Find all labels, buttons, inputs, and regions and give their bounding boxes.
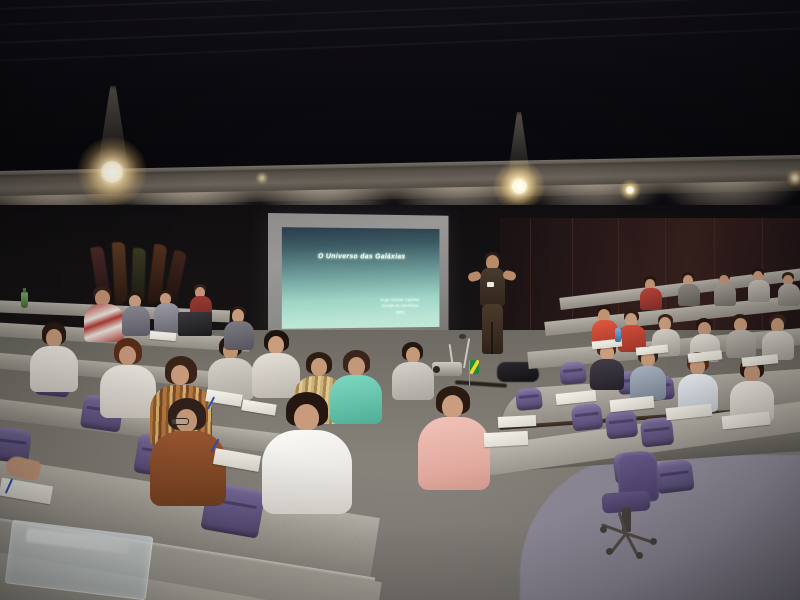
slide-title: O Universo das Galáxias [282,252,440,262]
audience-member [30,322,78,392]
office-chair[interactable] [592,452,684,572]
torso [122,306,150,336]
slide-affiliation: Divisão de Astrofísica [380,304,419,310]
ceiling-spot-right-core [626,186,634,194]
torso [714,284,736,306]
chair-caster [606,548,613,555]
desk-monitor [178,312,212,336]
head [406,347,420,363]
torso [154,303,180,332]
slide-byline: Hugo Vicente Capelato Divisão de Astrofí… [380,298,419,316]
chair-caster [600,526,607,533]
torso [262,430,352,514]
seat[interactable] [640,416,675,447]
projector-lens [433,366,440,373]
torso [640,288,662,310]
seat[interactable] [605,409,639,439]
audience-member [418,386,490,490]
head [311,358,327,376]
speaker-leg-split [491,322,493,354]
brazil-flag-pole [469,360,470,386]
audience-member [678,272,700,306]
ceiling-spot-center-core [512,179,527,194]
head [442,395,463,418]
head [744,364,760,382]
seat[interactable] [515,387,543,411]
projection-screen[interactable]: O Universo das Galáxias Hugo Vicente Cap… [268,213,449,341]
speaker-badge [487,282,494,287]
green-bottle [21,292,28,308]
auditorium-photo: O Universo das Galáxias Hugo Vicente Cap… [0,0,800,600]
eyeglasses [171,418,189,425]
blue-bottle [615,328,621,342]
torso [678,284,700,306]
torso [748,280,770,302]
torso [418,417,490,490]
audience-member [778,272,800,306]
head [171,365,189,385]
paper-sheet [484,431,529,447]
torso [30,346,78,392]
torso [224,321,254,350]
audience-member [726,314,756,358]
brazil-flag [470,360,479,374]
audience-member [640,276,662,310]
slide-institution: INPE [380,309,419,315]
audience-member [84,286,124,342]
head [46,329,62,347]
audience-member [748,268,770,302]
torso [590,359,624,390]
bottle-neck [23,288,26,293]
head [119,346,136,365]
chair-caster [636,552,643,559]
head [348,357,365,376]
torso [100,365,156,418]
audience-member [154,290,180,332]
audience-member [224,306,254,350]
head [268,336,284,354]
speaker [470,252,516,357]
audience-member [392,342,434,400]
torso [726,330,756,358]
chair-caster [650,538,657,545]
torso [392,362,434,400]
microphone-head [459,334,466,339]
torso [778,284,800,306]
audience-member [714,272,736,306]
slide-surface: O Universo das Galáxias Hugo Vicente Cap… [282,227,440,329]
audience-member [252,330,300,398]
torso [630,366,666,400]
seat[interactable] [571,403,604,432]
torso [84,304,124,342]
seat[interactable] [559,361,587,385]
audience-member [100,338,156,418]
audience-member [122,292,150,336]
ceiling-spot-left-core [101,161,123,183]
audience-member [762,314,794,360]
speaker-torso [480,268,505,306]
head [294,404,319,431]
paper-sheet [498,415,537,428]
